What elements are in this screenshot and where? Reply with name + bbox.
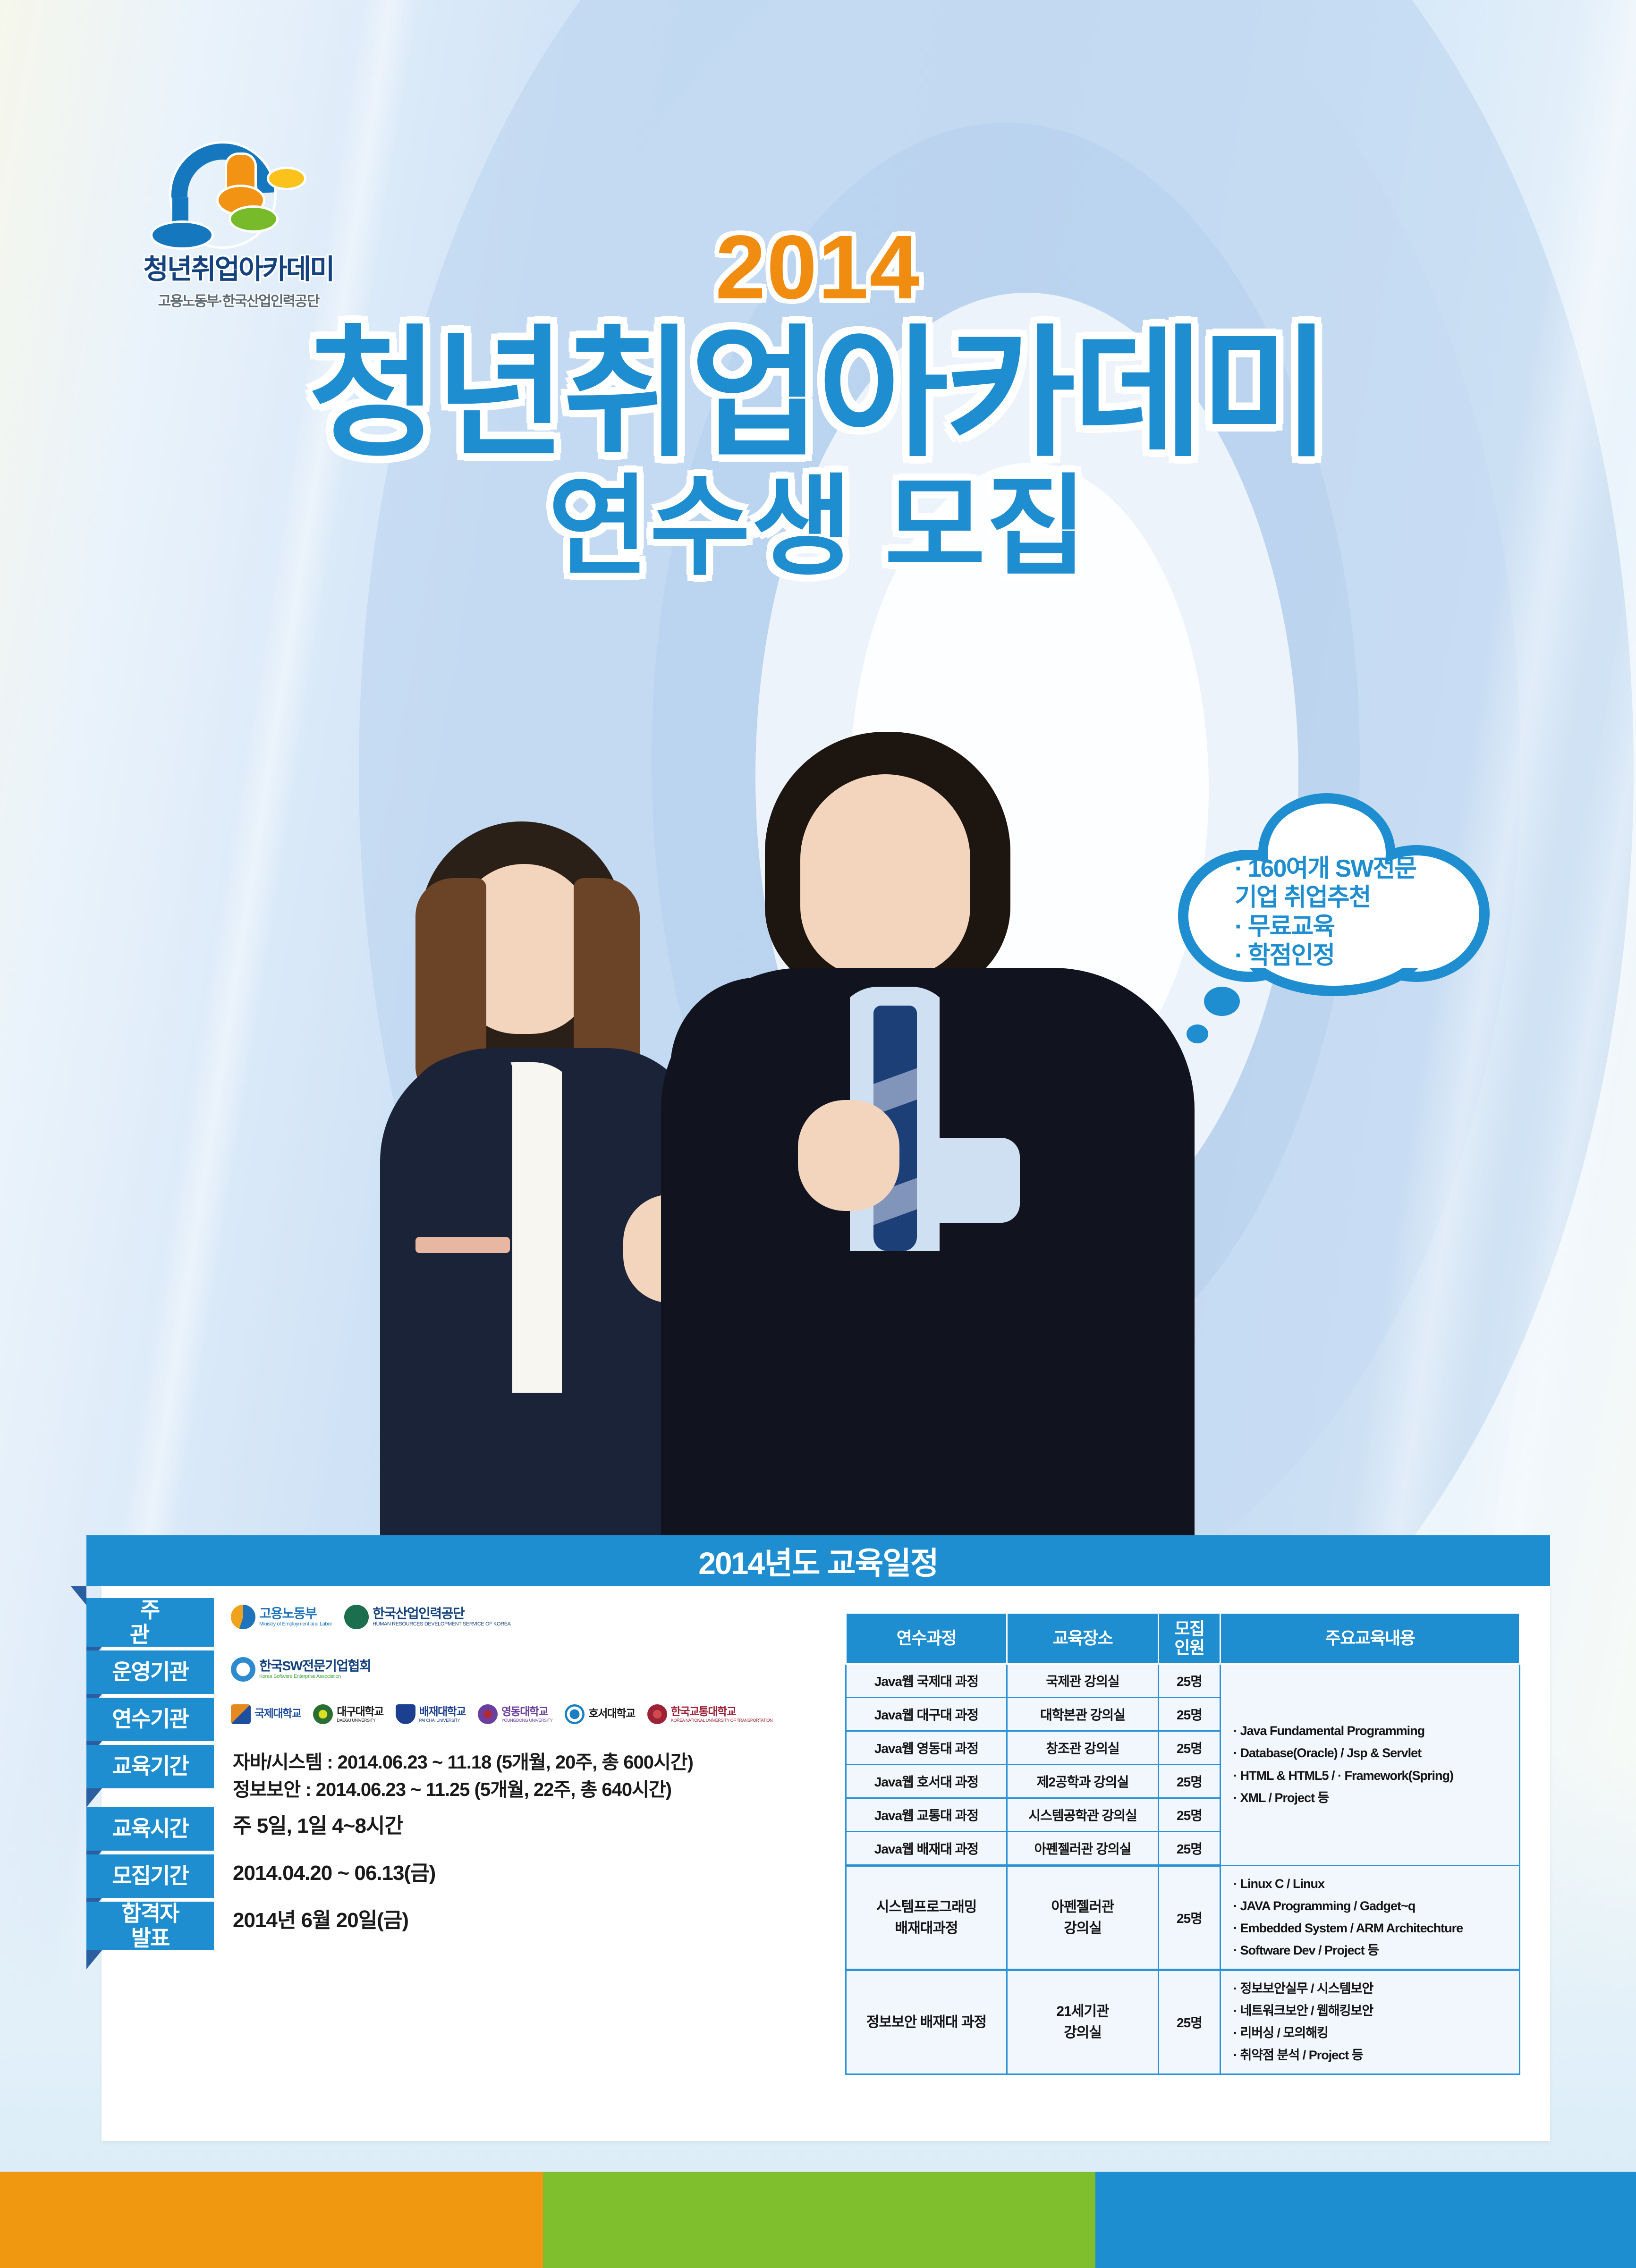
logo-hrdkorea: 한국산업인력공단HUMAN RESOURCES DEVELOPMENT SERV… [344, 1605, 511, 1629]
schedule-header-title: 2014년도 교육일정 [698, 1538, 938, 1583]
cell-count: 25명 [1159, 1697, 1221, 1731]
bubble-line: · 무료교육 [1235, 913, 1447, 941]
cell-place: 아펜젤러관 강의실 [1007, 1831, 1159, 1865]
footer-color-strip [0, 2172, 1636, 2268]
logo-youngdong-univ: 영동대학교YOUNGDONG UNIVERSITY [478, 1704, 553, 1724]
course-line1: 시스템프로그래밍 [849, 1896, 1003, 1918]
cell-course: Java웹 영동대 과정 [846, 1731, 1007, 1764]
th-course: 연수과정 [846, 1613, 1007, 1664]
table-header-row: 연수과정 교육장소 모집 인원 주요교육내용 [846, 1613, 1520, 1664]
bubble-tail-dot [1187, 1024, 1208, 1043]
content-line: · XML / Project 등 [1233, 1787, 1516, 1809]
logo-kosea: 한국SW전문기업협회Korea Software Enterprise Asso… [231, 1657, 371, 1682]
content-line: · 리버싱 / 모의해킹 [1233, 2022, 1516, 2044]
student-photo [359, 722, 1209, 1546]
cell-place-system: 아펜젤러관 강의실 [1007, 1865, 1159, 1970]
content-line: · 취약점 분석 / Project 등 [1233, 2044, 1516, 2066]
info-label-training-institutions: 연수기관 [86, 1698, 214, 1741]
footer-strip-orange [0, 2172, 543, 2268]
cell-count-system: 25명 [1159, 1865, 1221, 1970]
cell-content-java: · Java Fundamental Programming · Databas… [1221, 1664, 1520, 1865]
bubble-line: · 학점인정 [1235, 941, 1447, 970]
table-row-system-programming: 시스템프로그래밍 배재대과정 아펜젤러관 강의실 25명 · Linux C /… [846, 1865, 1520, 1970]
cell-place: 대학본관 강의실 [1007, 1697, 1159, 1731]
info-row-announcement: 합격자 발표 2014년 6월 20일(금) [86, 1902, 823, 1950]
cell-place: 제2공학과 강의실 [1007, 1764, 1159, 1798]
logo-daegu-univ: 대구대학교DAEGU UNIVERSITY [313, 1704, 383, 1724]
th-recruit-line2: 인원 [1161, 1638, 1218, 1657]
th-recruit-line1: 모집 [1161, 1619, 1218, 1638]
hours-line: 주 5일, 1일 4~8시간 [233, 1811, 403, 1841]
cell-place: 국제관 강의실 [1007, 1664, 1159, 1697]
cell-count: 25명 [1159, 1731, 1221, 1764]
info-value-announcement: 2014년 6월 20일(금) [214, 1902, 408, 1936]
hero-title: 청년취업아카데미 [0, 321, 1636, 467]
info-value-application: 2014.04.20 ~ 06.13(금) [214, 1854, 435, 1888]
table-row: Java웹 국제대 과정 국제관 강의실 25명 · Java Fundamen… [846, 1664, 1520, 1697]
youngdong-mark-icon [478, 1704, 498, 1724]
cell-content-security: · 정보보안실무 / 시스템보안 · 네트워크보안 / 웹해킹보안 · 리버싱 … [1221, 1970, 1520, 2074]
info-label-operator: 운영기관 [86, 1650, 214, 1694]
footer-strip-green [543, 2172, 1095, 2268]
place-line1: 21세기관 [1010, 2001, 1155, 2022]
moel-mark-icon [231, 1605, 255, 1629]
info-row-training-institutions: 연수기관 국제대학교 대구대학교DAEGU UNIVERSITY 배재대학교PA… [86, 1698, 823, 1741]
cell-course: Java웹 국제대 과정 [846, 1664, 1007, 1697]
content-line: · Java Fundamental Programming [1233, 1720, 1516, 1742]
paichai-mark-icon [396, 1704, 415, 1724]
announcement-label-line2: 발표 [131, 1926, 170, 1951]
cell-place: 시스템공학관 강의실 [1007, 1798, 1159, 1831]
content-line: · Embedded System / ARM Architechture [1233, 1917, 1516, 1939]
cell-course-system: 시스템프로그래밍 배재대과정 [846, 1865, 1007, 1970]
organizer-logos: 고용노동부Ministry of Employment and Labor 한국… [214, 1598, 511, 1629]
cell-course-security: 정보보안 배재대 과정 [846, 1970, 1007, 2074]
cell-course: Java웹 교통대 과정 [846, 1798, 1007, 1831]
info-row-operator: 운영기관 한국SW전문기업협회Korea Software Enterprise… [86, 1650, 823, 1694]
announcement-line: 2014년 6월 20일(금) [233, 1905, 408, 1936]
application-line: 2014.04.20 ~ 06.13(금) [233, 1858, 435, 1888]
place-line2: 강의실 [1010, 1918, 1155, 1939]
schedule-header-bar: 2014년도 교육일정 [86, 1535, 1550, 1586]
info-row-period: 교육기간 자바/시스템 : 2014.06.23 ~ 11.18 (5개월, 2… [86, 1745, 823, 1803]
kosea-mark-icon [231, 1657, 255, 1682]
period-line-security: 정보보안 : 2014.06.23 ~ 11.25 (5개월, 22주, 총 6… [233, 1776, 693, 1803]
table-row-security: 정보보안 배재대 과정 21세기관 강의실 25명 · 정보보안실무 / 시스템… [846, 1970, 1520, 2074]
hrdkorea-mark-icon [344, 1605, 369, 1629]
daegu-mark-icon [313, 1704, 333, 1724]
cell-course: Java웹 대구대 과정 [846, 1697, 1007, 1731]
bubble-text: · 160여개 SW전문 기업 취업추천 · 무료교육 · 학점인정 [1235, 855, 1447, 970]
logo-hoseo-univ: 호서대학교 [565, 1704, 635, 1724]
knut-mark-icon [647, 1704, 667, 1724]
hero-subtitle: 연수생 모집 [0, 470, 1636, 585]
thought-bubble: · 160여개 SW전문 기업 취업추천 · 무료교육 · 학점인정 [1178, 793, 1490, 1001]
training-institution-logos: 국제대학교 대구대학교DAEGU UNIVERSITY 배재대학교PAI CHA… [214, 1698, 772, 1724]
cell-count-security: 25명 [1159, 1970, 1221, 2074]
operator-logos: 한국SW전문기업협회Korea Software Enterprise Asso… [214, 1650, 371, 1682]
period-line-java: 자바/시스템 : 2014.06.23 ~ 11.18 (5개월, 20주, 총… [233, 1749, 693, 1776]
info-value-hours: 주 5일, 1일 4~8시간 [214, 1807, 403, 1841]
hero-title-block: 2014 청년취업아카데미 연수생 모집 [0, 222, 1636, 585]
logo-paichai-univ: 배재대학교PAI CHAI UNIVERSITY [396, 1704, 466, 1724]
place-line2: 강의실 [1010, 2022, 1155, 2043]
hero-year: 2014 [0, 222, 1636, 313]
hoseo-mark-icon [565, 1704, 585, 1724]
info-list: 주 관 고용노동부Ministry of Employment and Labo… [86, 1598, 823, 1954]
course-line2: 배재대과정 [849, 1918, 1003, 1939]
bubble-line: · 160여개 SW전문 [1235, 855, 1447, 883]
info-label-hours: 교육시간 [86, 1807, 214, 1851]
cell-place: 창조관 강의실 [1007, 1731, 1159, 1764]
content-line: · 정보보안실무 / 시스템보안 [1233, 1978, 1516, 2000]
th-place: 교육장소 [1007, 1613, 1159, 1664]
info-label-period: 교육기간 [86, 1745, 214, 1788]
info-row-hours: 교육시간 주 5일, 1일 4~8시간 [86, 1807, 823, 1851]
th-content: 주요교육내용 [1221, 1613, 1520, 1664]
course-table: 연수과정 교육장소 모집 인원 주요교육내용 Java웹 국제대 과정 국제관 … [845, 1612, 1520, 2075]
cell-count: 25명 [1159, 1831, 1221, 1865]
logo-kookje-univ: 국제대학교 [231, 1704, 301, 1724]
cell-course: Java웹 배재대 과정 [846, 1831, 1007, 1865]
announcement-label-line1: 합격자 [122, 1902, 179, 1926]
content-line: · Linux C / Linux [1233, 1873, 1516, 1895]
bubble-tail-dot [1204, 987, 1240, 1016]
cell-count: 25명 [1159, 1798, 1221, 1831]
content-line: · JAVA Programming / Gadget~q [1233, 1895, 1516, 1917]
logo-moel: 고용노동부Ministry of Employment and Labor [231, 1605, 332, 1629]
cell-place-security: 21세기관 강의실 [1007, 1970, 1159, 2074]
info-label-organizer: 주 관 [86, 1598, 214, 1647]
kookje-mark-icon [231, 1704, 251, 1724]
cell-count: 25명 [1159, 1664, 1221, 1697]
cell-content-system: · Linux C / Linux · JAVA Programming / G… [1221, 1865, 1520, 1970]
content-line: · Software Dev / Project 등 [1233, 1939, 1516, 1962]
cell-count: 25명 [1159, 1764, 1221, 1798]
content-line: · HTML & HTML5 / · Framework(Spring) [1233, 1765, 1516, 1787]
info-row-application: 모집기간 2014.04.20 ~ 06.13(금) [86, 1854, 823, 1898]
content-line: · 네트워크보안 / 웹해킹보안 [1233, 2000, 1516, 2022]
info-value-period: 자바/시스템 : 2014.06.23 ~ 11.18 (5개월, 20주, 총… [214, 1745, 693, 1803]
info-label-announcement: 합격자 발표 [86, 1902, 214, 1950]
cell-course: Java웹 호서대 과정 [846, 1764, 1007, 1798]
content-line: · Database(Oracle) / Jsp & Servlet [1233, 1742, 1516, 1764]
info-label-application: 모집기간 [86, 1854, 214, 1898]
place-line1: 아펜젤러관 [1010, 1896, 1155, 1918]
footer-strip-blue [1095, 2172, 1636, 2268]
th-recruit-count: 모집 인원 [1159, 1613, 1221, 1664]
logo-knut-univ: 한국교통대학교KOREA NATIONAL UNIVERSITY OF TRAN… [647, 1704, 773, 1724]
info-row-organizer: 주 관 고용노동부Ministry of Employment and Labo… [86, 1598, 823, 1647]
bubble-line: 기업 취업추천 [1235, 883, 1447, 912]
